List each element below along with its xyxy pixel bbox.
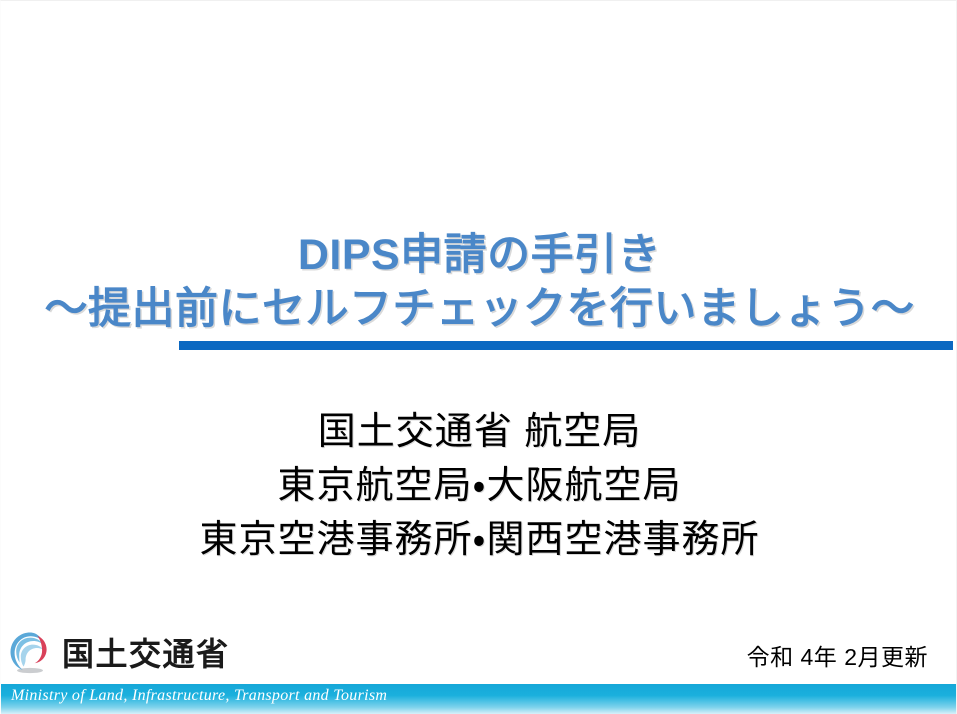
title-block: DIPS申請の手引き ～提出前にセルフチェックを行いましょう～ xyxy=(1,229,957,336)
page-title-line-1: DIPS申請の手引き xyxy=(1,229,957,281)
organization-line: 東京空港事務所・関西空港事務所 xyxy=(1,514,957,568)
title-underline-rule xyxy=(179,341,953,350)
mlit-logo-text: 国土交通省 xyxy=(62,629,230,675)
update-date-label: 令和 4年 2月更新 xyxy=(747,638,928,672)
page-title-line-2: ～提出前にセルフチェックを行いましょう～ xyxy=(1,283,957,335)
mlit-logo: 国土交通省 xyxy=(7,629,230,675)
title-slide: DIPS申請の手引き ～提出前にセルフチェックを行いましょう～ 国土交通省 航空… xyxy=(0,0,957,714)
footer-band-text: Ministry of Land, Infrastructure, Transp… xyxy=(11,687,387,705)
mlit-globe-swirl-icon xyxy=(7,629,53,675)
organization-block: 国土交通省 航空局 東京航空局・大阪航空局 東京空港事務所・関西空港事務所 xyxy=(1,406,957,568)
organization-line: 東京航空局・大阪航空局 xyxy=(1,460,957,514)
organization-line: 国土交通省 航空局 xyxy=(1,406,957,460)
footer-band: Ministry of Land, Infrastructure, Transp… xyxy=(1,684,957,714)
